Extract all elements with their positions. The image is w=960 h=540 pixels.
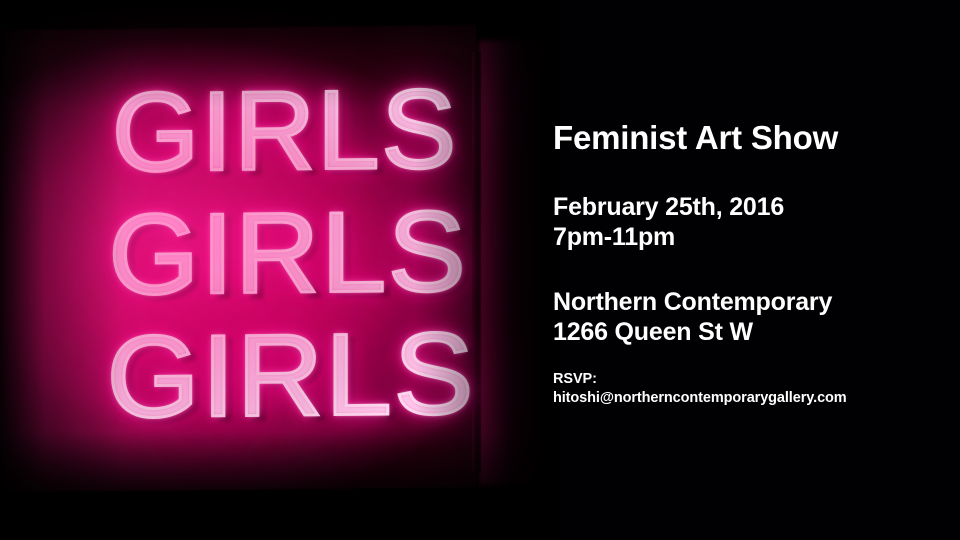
event-time: 7pm-11pm	[553, 222, 784, 252]
neon-row-girls-3: GIRLS	[107, 306, 476, 444]
rsvp-label: RSVP:	[553, 370, 847, 389]
neon-sign-photo: GIRLS GIRLS GIRLS GIRLS GIRLS GIRLS	[0, 0, 560, 540]
neon-row-girls-2: GIRLS	[108, 186, 467, 321]
event-date: February 25th, 2016	[553, 192, 784, 222]
event-info-panel: Feminist Art Show February 25th, 2016 7p…	[553, 0, 953, 540]
rsvp-email[interactable]: hitoshi@northerncontemporarygallery.com	[553, 389, 847, 408]
neon-text-rows: GIRLS GIRLS GIRLS GIRLS GIRLS GIRLS	[0, 0, 560, 540]
venue-address: 1266 Queen St W	[553, 317, 832, 347]
venue-name: Northern Contemporary	[553, 287, 832, 317]
event-poster: GIRLS GIRLS GIRLS GIRLS GIRLS GIRLS Femi…	[0, 0, 960, 540]
neon-row-girls-1: GIRLS	[112, 64, 458, 197]
event-datetime: February 25th, 2016 7pm-11pm	[553, 192, 784, 252]
rsvp-block: RSVP: hitoshi@northerncontemporarygaller…	[553, 370, 847, 408]
event-title: Feminist Art Show	[553, 120, 838, 156]
event-venue: Northern Contemporary 1266 Queen St W	[553, 287, 832, 347]
